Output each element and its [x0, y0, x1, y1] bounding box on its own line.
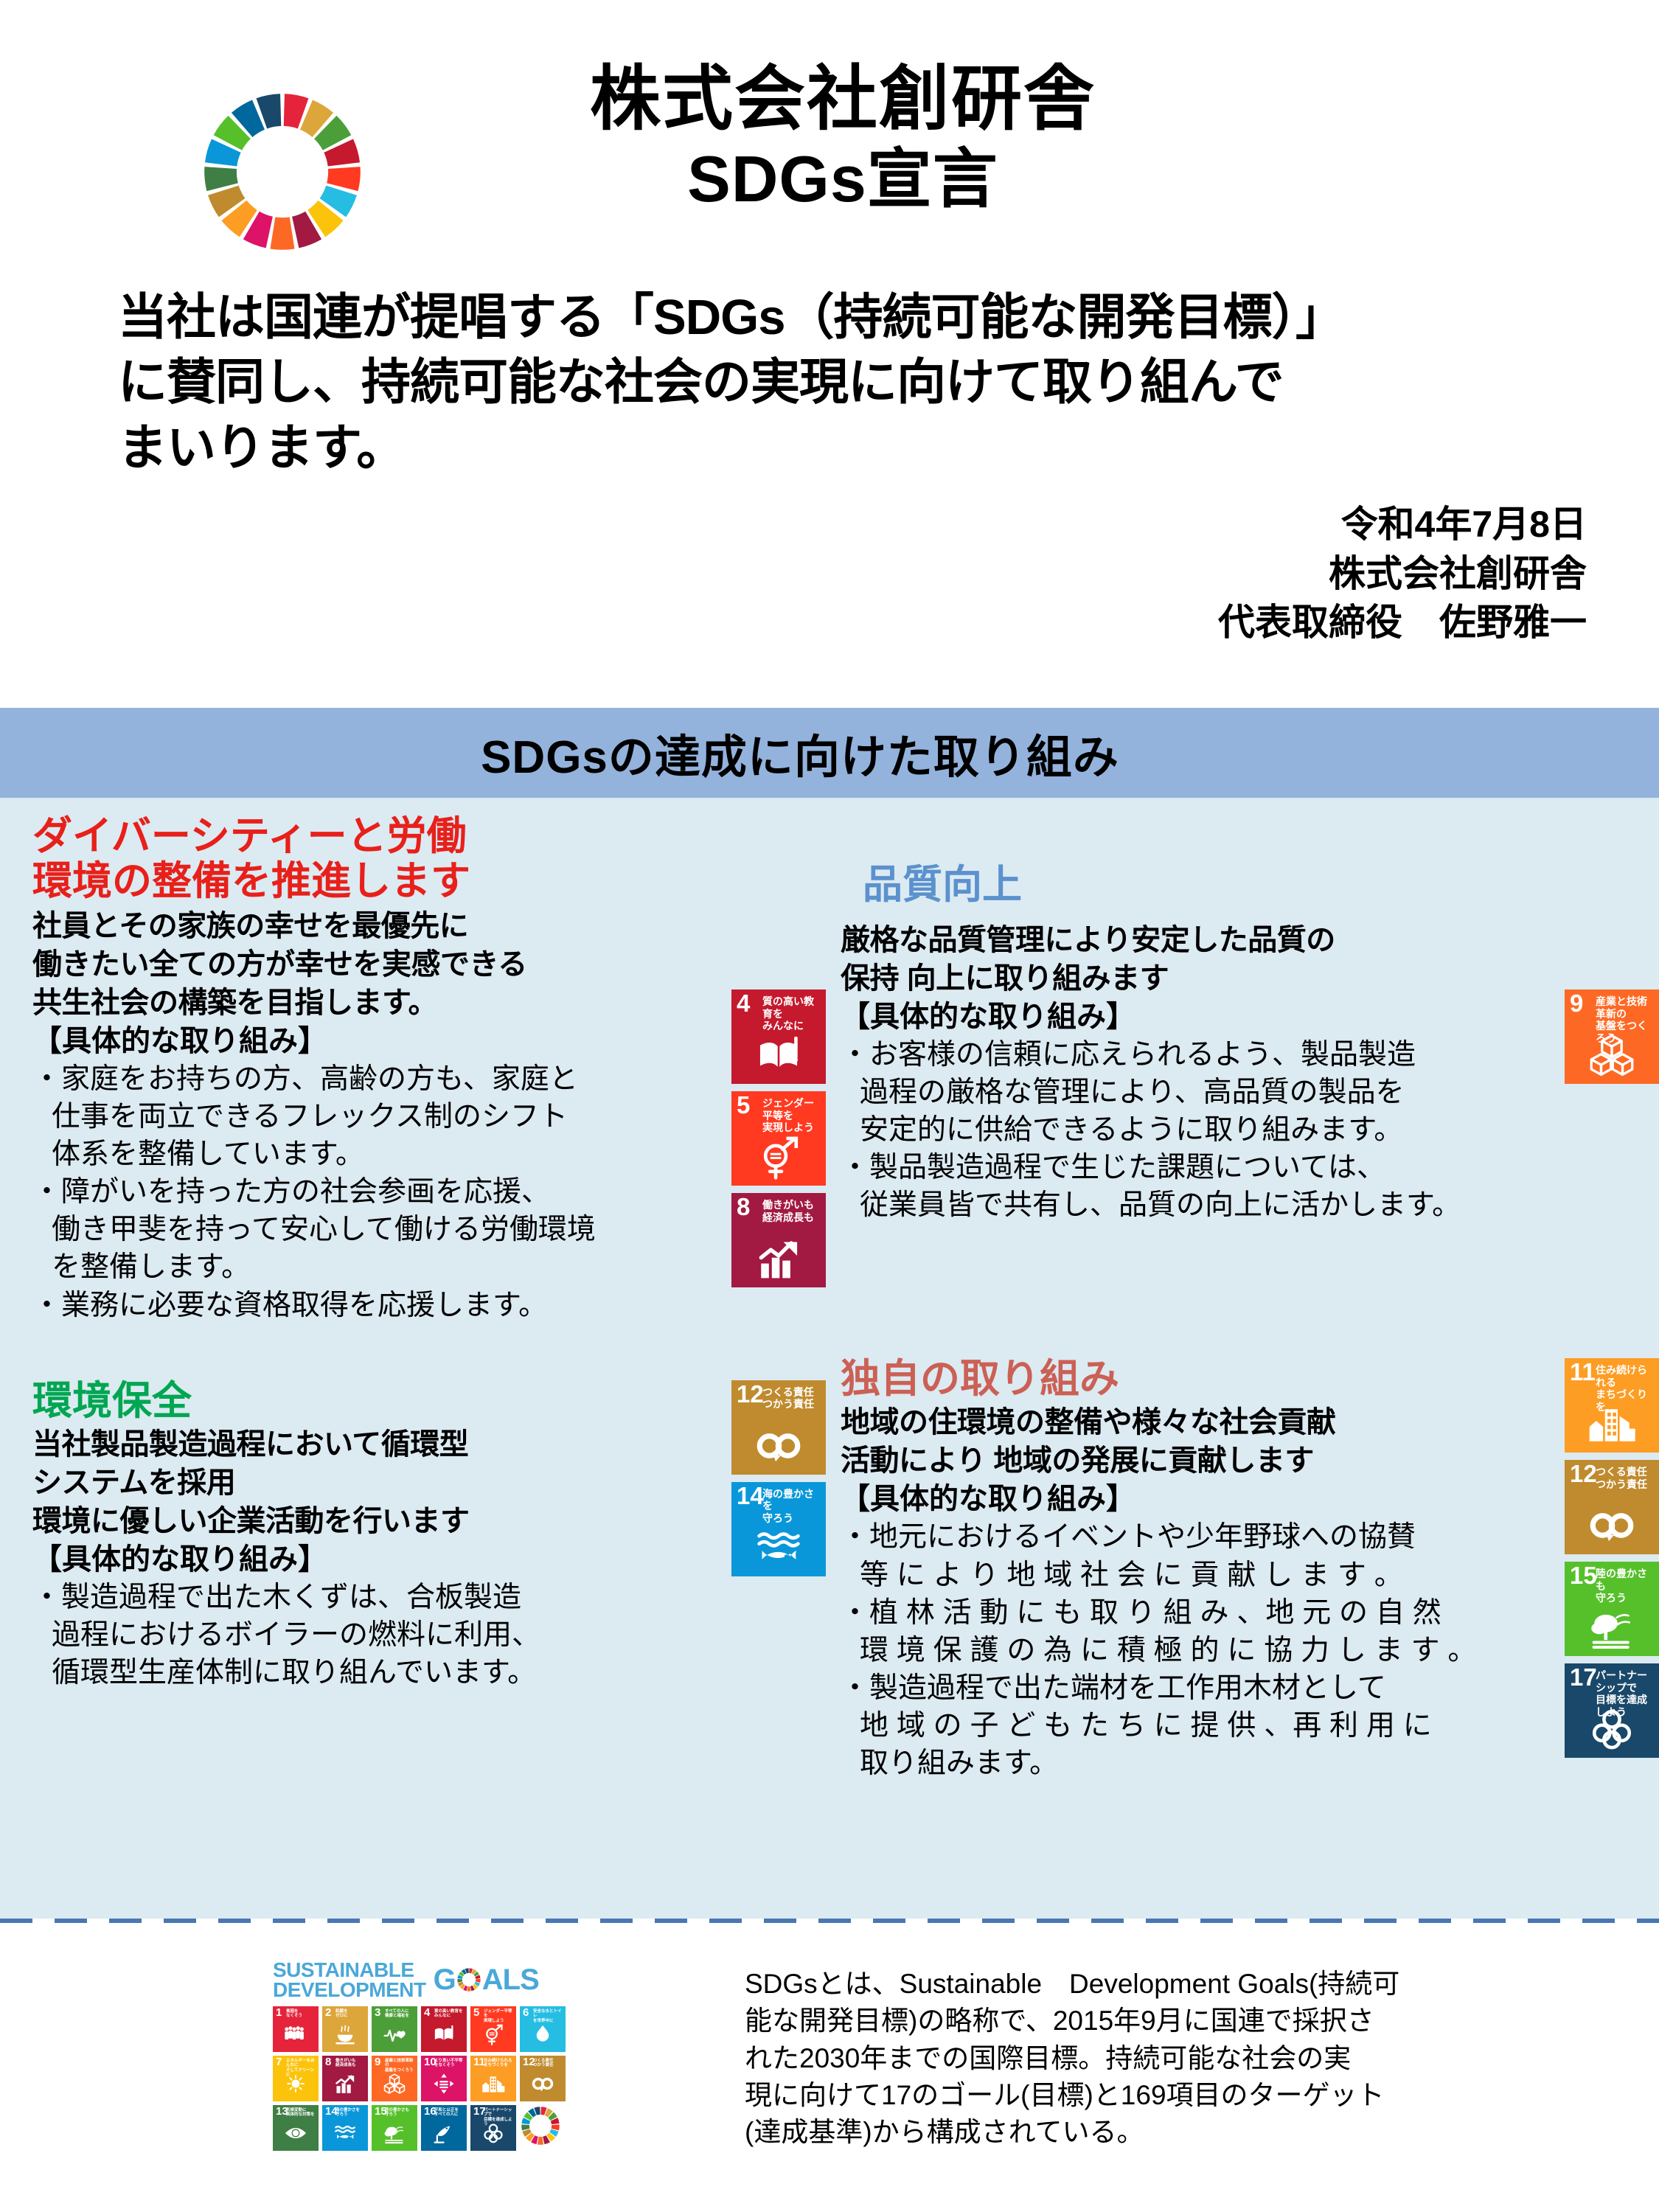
sdg-logo-block: SUSTAINABLE DEVELOPMENT G ALS 1貧困をなくそう 2…: [0, 1960, 745, 2152]
measures-label: 【具体的な取り組み】: [841, 1480, 1565, 1518]
sdg-mini-label: 住み続けられるまちづくりを: [484, 2059, 515, 2068]
measures-list: ・製造過程で出た木くずは、合板製造 過程におけるボイラーの燃料に利用、 循環型生…: [32, 1579, 731, 1691]
sdg-mini-12-glyph: [520, 2072, 566, 2099]
section-original: 独自の取り組み 地域の住環境の整備や様々な社会貢献 活動により 地域の発展に貢献…: [841, 1357, 1659, 1782]
sdg-goal-label: 働きがいも経済成長も: [762, 1199, 823, 1223]
page-title: 株式会社創研舎: [456, 58, 1230, 141]
declaration-paragraph: 当社は国連が提唱する「SDGs（持続可能な開発目標）」 に賛同し、持続可能な社会…: [118, 285, 1563, 481]
section-heading: ダイバーシティーと労働 環境の整備を推進します: [32, 814, 731, 904]
sdg-goal-11-glyph: [1565, 1399, 1659, 1448]
sdg-goal-12-icon: 12つくる責任つかう責任: [1565, 1460, 1659, 1554]
sdg-mini-label: すべての人に健康と福祉を: [385, 2009, 416, 2019]
company-name: 株式会社創研舎: [0, 549, 1587, 599]
sdg-goal-8-icon: 8働きがいも経済成長も: [731, 1193, 826, 1287]
sdg-mini-label: より良い不平等をなくそう: [434, 2059, 465, 2068]
sdg-mini-12: 12つくる責任つかう責任: [520, 2056, 566, 2101]
sdg-goal-number: 14: [737, 1484, 764, 1508]
initiatives-area: ダイバーシティーと労働 環境の整備を推進します 社員とその家族の幸せを最優先に …: [0, 798, 1659, 1919]
section-diversity: ダイバーシティーと労働 環境の整備を推進します 社員とその家族の幸せを最優先に …: [32, 814, 826, 1324]
section-banner-title: SDGsの達成に向けた取り組み: [481, 720, 1119, 786]
sdg-mini-label: 安全な水とトイレを世界中に: [533, 2009, 564, 2023]
sdg-mini-1-glyph: [273, 2023, 319, 2050]
sdg-goal-label: 質の高い教育をみんなに: [762, 995, 823, 1032]
sdg-mini-15-glyph: [372, 2121, 417, 2149]
sdg-mini-label: つくる責任つかう責任: [533, 2059, 564, 2068]
sdg-mini-10: 10より良い不平等をなくそう: [421, 2056, 467, 2101]
sdg-goal-number: 17: [1570, 1665, 1597, 1689]
sdg-mini-3-glyph: [372, 2023, 417, 2050]
sdg-goal-label: 海の豊かさを守ろう: [762, 1488, 823, 1525]
sdg-mini-2-glyph: [322, 2023, 368, 2050]
sdg-mini-label: 気候変動に具体的な対策を: [286, 2108, 317, 2118]
sdg-goal-label: つくる責任つかう責任: [1596, 1466, 1656, 1490]
sdg-goal-4-icon: 4質の高い教育をみんなに: [731, 990, 826, 1084]
sdg-mini-label: 飢餓をゼロに: [335, 2009, 366, 2019]
sdg-goal-label: ジェンダー平等を実現しよう: [762, 1097, 823, 1134]
sdg-mini-number: 8: [325, 2056, 331, 2067]
sdg-goal-8-glyph: [731, 1234, 826, 1283]
sdg-mini-number: 4: [424, 2007, 430, 2018]
sdg-mini-11-glyph: [470, 2072, 516, 2099]
section-environment: 環境保全 当社製品製造過程において循環型 システムを採用 環境に優しい企業活動を…: [32, 1379, 826, 1691]
sdg-mini-6-glyph: [520, 2023, 566, 2050]
column-left: ダイバーシティーと労働 環境の整備を推進します 社員とその家族の幸せを最優先に …: [0, 811, 826, 1782]
sdg-mini-7-glyph: [273, 2072, 319, 2099]
sdg-mini-label: 海の豊かさを守ろう: [335, 2108, 366, 2118]
sdg-mini-number: 3: [375, 2007, 380, 2018]
measures-list: ・地元におけるイベントや少年野球への協賛 等 に よ り 地 域 社 会 に 貢…: [841, 1518, 1565, 1782]
sdg-goal-label: つくる責任つかう責任: [762, 1386, 823, 1411]
sdg-goal-number: 4: [737, 991, 750, 1015]
sdg-mini-9: 9産業と技術革新の基盤をつくろう: [372, 2056, 417, 2101]
sdg-mini-2: 2飢餓をゼロに: [322, 2006, 368, 2052]
sdg-goal-14-glyph: [731, 1523, 826, 1572]
sdg-wordmark-goals: G ALS: [434, 1964, 539, 1997]
sdg-mini-8: 8働きがいも経済成長も: [322, 2056, 368, 2101]
sdg-goal-9-icon: 9産業と技術革新の基盤をつくろう: [1565, 990, 1659, 1084]
sdg-mini-number: 9: [375, 2056, 380, 2067]
sdg-mini-13-glyph: [273, 2121, 319, 2149]
sdg-goal-17-glyph: [1565, 1705, 1659, 1753]
header: 株式会社創研舎 SDGs宣言 当社は国連が提唱する「SDGs（持続可能な開発目標…: [0, 0, 1659, 708]
sdg-goal-number: 11: [1570, 1360, 1596, 1384]
sdg-goal-17-icon: 17パートナーシップで目標を達成しよう: [1565, 1663, 1659, 1758]
sdg-wordmark-text: SUSTAINABLE DEVELOPMENT: [273, 1960, 426, 2000]
sdg-goal-12-glyph: [1565, 1501, 1659, 1550]
section-quality: 品質向上 厳格な品質管理により安定した品質の 保持 向上に取り組みます 【具体的…: [841, 863, 1659, 1224]
sdg-mini-15: 15陸の豊かさも守ろう: [372, 2105, 417, 2151]
sdg-mini-8-glyph: [322, 2072, 368, 2099]
goal-icons-environment: 12つくる責任つかう責任 14海の豊かさを守ろう: [731, 1380, 826, 1576]
sdg-goal-4-glyph: [731, 1031, 826, 1079]
sdg-mini-5-glyph: [470, 2023, 516, 2050]
sdg-goal-5-icon: 5ジェンダー平等を実現しよう: [731, 1091, 826, 1186]
declaration-line: に賛同し、持続可能な社会の実現に向けて取り組んで: [118, 350, 1563, 415]
sdg-mini-label: 陸の豊かさも守ろう: [385, 2108, 416, 2118]
measures-label: 【具体的な取り組み】: [32, 1540, 731, 1579]
sdg-goal-14-icon: 14海の豊かさを守ろう: [731, 1482, 826, 1576]
sdg-mini-number: 1: [276, 2007, 282, 2018]
section-heading: 独自の取り組み: [841, 1357, 1565, 1402]
column-right: 品質向上 厳格な品質管理により安定した品質の 保持 向上に取り組みます 【具体的…: [826, 811, 1659, 1782]
sdg-goal-15-icon: 15陸の豊かさも守ろう: [1565, 1562, 1659, 1656]
sdg-mini-number: 2: [325, 2007, 331, 2018]
sdg-goal-label: 陸の豊かさも守ろう: [1596, 1568, 1656, 1604]
representative-name: 代表取締役 佐野雅一: [0, 598, 1587, 647]
title-block: 株式会社創研舎 SDGs宣言: [456, 58, 1230, 218]
section-lead: 地域の住環境の整備や様々な社会貢献 活動により 地域の発展に貢献します: [841, 1403, 1565, 1480]
section-banner: SDGsの達成に向けた取り組み: [0, 708, 1659, 798]
sdg-mini-9-glyph: [372, 2072, 417, 2099]
sdg-mini-11: 11住み続けられるまちづくりを: [470, 2056, 516, 2101]
sdg-mini-4: 4質の高い教育をみんなに: [421, 2006, 467, 2052]
sdg-mini-wheel: [520, 2105, 566, 2151]
sdg-goal-9-glyph: [1565, 1031, 1659, 1079]
goal-icons-quality: 9産業と技術革新の基盤をつくろう: [1565, 990, 1659, 1084]
sdg-mini-label: 貧困をなくそう: [286, 2009, 317, 2019]
sdg-mini-label: 平和と公正をすべての人に: [434, 2108, 465, 2118]
sdg-goal-5-glyph: [731, 1133, 826, 1181]
sdg-mini-4-glyph: [421, 2023, 467, 2050]
sdg-mini-1: 1貧困をなくそう: [273, 2006, 319, 2052]
declaration-line: 当社は国連が提唱する「SDGs（持続可能な開発目標）」: [118, 285, 1563, 350]
sdg-wheel-small-icon: [456, 1967, 481, 1992]
signature-block: 令和4年7月8日 株式会社創研舎 代表取締役 佐野雅一: [0, 500, 1659, 647]
sdg-mini-5: 5ジェンダー平等を実現しよう: [470, 2006, 516, 2052]
section-lead: 社員とその家族の幸せを最優先に 働きたい全ての方が幸せを実感できる 共生社会の構…: [32, 907, 731, 1022]
goal-icons-diversity: 4質の高い教育をみんなに 5ジェンダー平等を実現しよう 8働きがいも経済成長も: [731, 990, 826, 1287]
measures-label: 【具体的な取り組み】: [32, 1022, 731, 1060]
sdg-goal-number: 8: [737, 1194, 750, 1219]
sdg-mini-number: 7: [276, 2056, 282, 2067]
sdg-mini-number: 6: [523, 2007, 529, 2018]
dashed-divider: [0, 1919, 1659, 1923]
sdg-wheel-grid-icon: [520, 2105, 561, 2146]
sdg-mini-14: 14海の豊かさを守ろう: [322, 2105, 368, 2151]
sdg-goal-number: 5: [737, 1093, 750, 1117]
sdg-goal-15-glyph: [1565, 1603, 1659, 1652]
sdg-goal-number: 12: [737, 1382, 764, 1406]
sdg-mini-label: 質の高い教育をみんなに: [434, 2009, 465, 2019]
sdg-goal-number: 15: [1570, 1563, 1597, 1587]
sdg-mini-13: 13気候変動に具体的な対策を: [273, 2105, 319, 2151]
sdg-mini-3: 3すべての人に健康と福祉を: [372, 2006, 417, 2052]
sdg-goal-12-icon: 12つくる責任つかう責任: [731, 1380, 826, 1475]
goal-icons-original: 11住み続けられるまちづくりを 12つくる責任つかう責任 15陸の豊かさも守ろう…: [1565, 1358, 1659, 1758]
page-subtitle: SDGs宣言: [456, 141, 1230, 218]
section-lead: 厳格な品質管理により安定した品質の 保持 向上に取り組みます: [841, 921, 1565, 998]
measures-label: 【具体的な取り組み】: [841, 998, 1565, 1036]
declaration-line: まいります。: [118, 416, 1563, 481]
sdg-goal-grid: 1貧困をなくそう 2飢餓をゼロに 3すべての人に健康と福祉を 4質の高い教育をみ…: [273, 2006, 745, 2151]
sdg-mini-number: 5: [473, 2007, 479, 2018]
sdgs-definition-note: SDGsとは、Sustainable Development Goals(持続可…: [745, 1960, 1659, 2152]
measures-list: ・お客様の信頼に応えられるよう、製品製造 過程の厳格な管理により、高品質の製品を…: [841, 1036, 1565, 1224]
section-heading: 環境保全: [32, 1379, 731, 1424]
sdg-mini-16-glyph: [421, 2121, 467, 2149]
measures-list: ・家庭をお持ちの方、高齢の方も、家庭と 仕事を両立できるフレックス制のシフト 体…: [32, 1060, 731, 1324]
sdg-mini-6: 6安全な水とトイレを世界中に: [520, 2006, 566, 2052]
sdg-goal-number: 12: [1570, 1461, 1597, 1486]
sdg-wordmark: SUSTAINABLE DEVELOPMENT G ALS: [273, 1960, 745, 2000]
declaration-date: 令和4年7月8日: [0, 500, 1587, 549]
sdg-color-wheel-logo: [198, 87, 367, 260]
sdg-mini-16: 16平和と公正をすべての人に: [421, 2105, 467, 2151]
sdg-mini-label: ジェンダー平等を実現しよう: [484, 2009, 515, 2023]
section-lead: 当社製品製造過程において循環型 システムを採用 環境に優しい企業活動を行います: [32, 1425, 731, 1540]
sdg-mini-14-glyph: [322, 2121, 368, 2149]
sdg-mini-7: 7エネルギーをみんなにそしてクリーンに: [273, 2056, 319, 2101]
sdg-goal-11-icon: 11住み続けられるまちづくりを: [1565, 1358, 1659, 1453]
footer: SUSTAINABLE DEVELOPMENT G ALS 1貧困をなくそう 2…: [0, 1919, 1659, 2212]
sdgs-declaration-page: 株式会社創研舎 SDGs宣言 当社は国連が提唱する「SDGs（持続可能な開発目標…: [0, 0, 1659, 2212]
sdg-goal-12-glyph: [731, 1422, 826, 1470]
sdg-mini-label: 産業と技術革新の基盤をつくろう: [385, 2059, 416, 2073]
sdg-goal-number: 9: [1570, 991, 1583, 1015]
section-heading: 品質向上: [841, 863, 1565, 908]
sdg-mini-10-glyph: [421, 2072, 467, 2099]
sdg-mini-label: 働きがいも経済成長も: [335, 2059, 366, 2068]
sdg-mini-17: 17パートナーシップで目標を達成しよう: [470, 2105, 516, 2151]
sdg-mini-17-glyph: [470, 2121, 516, 2149]
